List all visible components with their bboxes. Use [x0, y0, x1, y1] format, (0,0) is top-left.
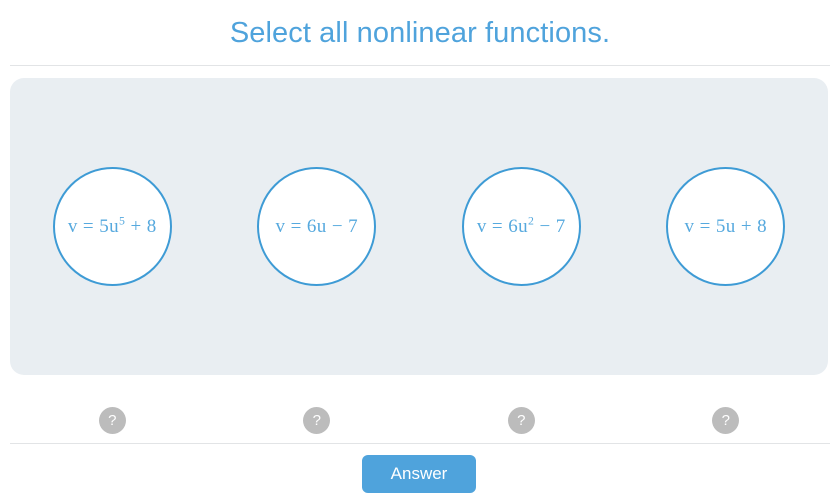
- equation-constant: 7: [556, 216, 566, 237]
- equation-equals: =: [700, 216, 711, 237]
- option-choice-4[interactable]: v = 5u + 8: [666, 167, 785, 286]
- equation-equals: =: [291, 216, 302, 237]
- option-equation-2: v = 6u − 7: [276, 217, 359, 236]
- option-equation-3: v = 6u2 − 7: [477, 217, 566, 236]
- divider-bottom: [10, 443, 830, 444]
- equation-lhs: v: [68, 216, 78, 237]
- options-row: v = 5u5 + 8 v = 6u − 7 v = 6u2 − 7 v = 5…: [10, 78, 828, 375]
- equation-variable: u: [726, 216, 736, 237]
- help-row: ? ? ? ?: [10, 395, 828, 439]
- equation-operator: +: [130, 216, 141, 237]
- page-title: Select all nonlinear functions.: [0, 17, 840, 50]
- divider-top: [10, 65, 830, 66]
- equation-exponent: 2: [528, 215, 534, 228]
- equation-coefficient: 5: [99, 216, 109, 237]
- equation-operator: −: [332, 216, 343, 237]
- equation-lhs: v: [477, 216, 487, 237]
- help-icon-4[interactable]: ?: [712, 407, 739, 434]
- option-choice-3[interactable]: v = 6u2 − 7: [462, 167, 581, 286]
- equation-coefficient: 5: [716, 216, 726, 237]
- option-equation-4: v = 5u + 8: [685, 217, 768, 236]
- equation-operator: +: [741, 216, 752, 237]
- equation-variable: u: [518, 216, 528, 237]
- equation-equals: =: [492, 216, 503, 237]
- answer-button[interactable]: Answer: [362, 455, 476, 493]
- equation-lhs: v: [685, 216, 695, 237]
- equation-coefficient: 6: [307, 216, 317, 237]
- equation-equals: =: [83, 216, 94, 237]
- help-icon-3[interactable]: ?: [508, 407, 535, 434]
- help-icon-2[interactable]: ?: [303, 407, 330, 434]
- option-equation-1: v = 5u5 + 8: [68, 217, 157, 236]
- option-choice-2[interactable]: v = 6u − 7: [257, 167, 376, 286]
- equation-operator: −: [539, 216, 550, 237]
- equation-constant: 7: [348, 216, 358, 237]
- equation-constant: 8: [147, 216, 157, 237]
- quiz-container: Select all nonlinear functions. v = 5u5 …: [0, 0, 840, 501]
- equation-lhs: v: [276, 216, 286, 237]
- equation-coefficient: 6: [508, 216, 518, 237]
- help-icon-1[interactable]: ?: [99, 407, 126, 434]
- equation-variable: u: [317, 216, 327, 237]
- equation-constant: 8: [757, 216, 767, 237]
- equation-exponent: 5: [119, 215, 125, 228]
- equation-variable: u: [109, 216, 119, 237]
- option-choice-1[interactable]: v = 5u5 + 8: [53, 167, 172, 286]
